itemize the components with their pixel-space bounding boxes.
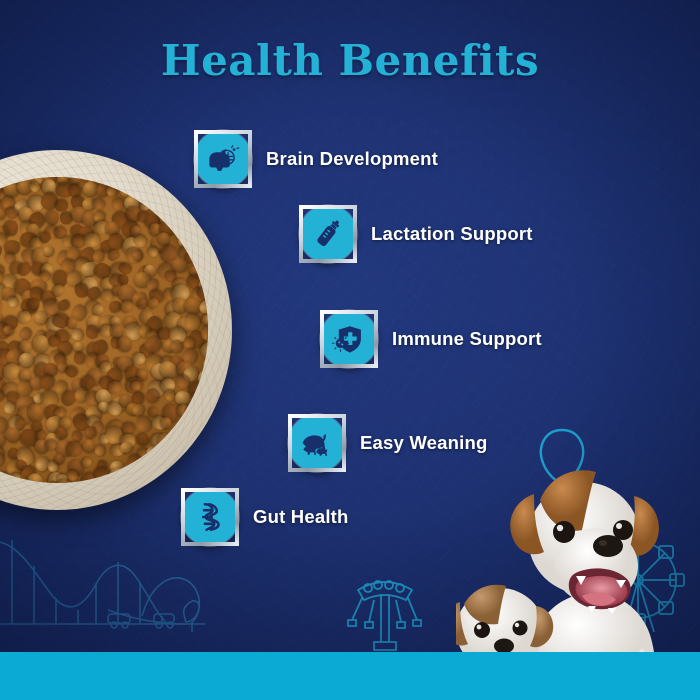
badge-lactation-support[interactable] (299, 205, 357, 263)
page-title: Health Benefits (0, 36, 700, 85)
kibble-piece (85, 325, 98, 340)
benefit-label: Brain Development (266, 148, 438, 170)
benefit-label: Immune Support (392, 328, 542, 350)
benefit-item-gut-health[interactable]: Gut Health (181, 488, 349, 546)
kibble-piece (146, 246, 158, 257)
shield-virus-icon (332, 322, 366, 356)
kibble-piece (94, 444, 105, 457)
baby-bottle-icon (311, 217, 345, 251)
kibble-piece (3, 401, 16, 415)
kibble-piece (71, 430, 82, 442)
kibble-piece (134, 414, 152, 434)
bottom-accent-band (0, 652, 700, 700)
intestines-icon (193, 500, 227, 534)
kibble-piece (19, 353, 34, 366)
benefit-item-brain-development[interactable]: Brain Development (194, 130, 438, 188)
benefit-label: Lactation Support (371, 223, 533, 245)
kibble-piece (121, 422, 135, 435)
poster-canvas: Health Benefits Brain Development (0, 0, 700, 700)
dog-brain-icon (206, 142, 240, 176)
badge-immune-support[interactable] (320, 310, 378, 368)
badge-brain-development[interactable] (194, 130, 252, 188)
kibble-piece (71, 327, 84, 341)
dog-with-puppies-icon (300, 426, 334, 460)
dog-food-bowl (0, 150, 232, 510)
kibble-piece (171, 257, 188, 272)
benefit-label: Gut Health (253, 506, 349, 528)
benefit-item-immune-support[interactable]: Immune Support (320, 310, 542, 368)
badge-gut-health[interactable] (181, 488, 239, 546)
benefit-item-lactation-support[interactable]: Lactation Support (299, 205, 533, 263)
kibble-piece (118, 472, 132, 483)
badge-easy-weaning[interactable] (288, 414, 346, 472)
kibble-piece (45, 209, 60, 225)
kibble-piece (162, 473, 175, 483)
